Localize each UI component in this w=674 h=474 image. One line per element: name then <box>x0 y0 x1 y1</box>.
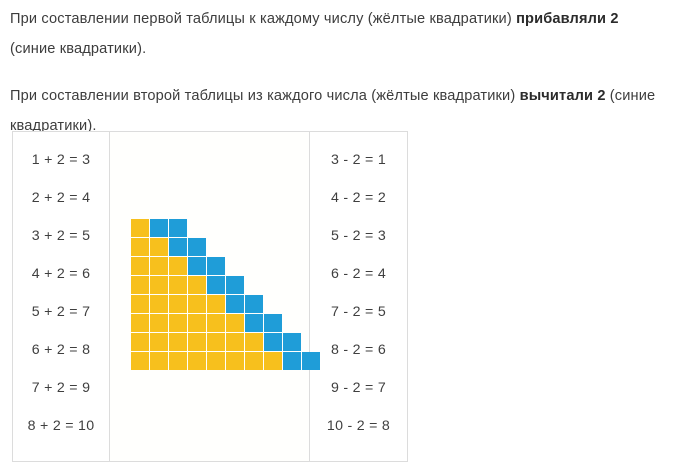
yellow-square <box>188 333 206 351</box>
yellow-square <box>188 314 206 332</box>
yellow-square <box>226 333 244 351</box>
squares-diagram-column <box>110 132 310 461</box>
yellow-square <box>150 238 168 256</box>
intro-paragraph-1-before: При составлении первой таблицы к каждому… <box>10 11 516 27</box>
yellow-square <box>150 257 168 275</box>
yellow-square <box>188 276 206 294</box>
subtraction-equation-row: 8 - 2 = 6 <box>310 331 407 369</box>
yellow-square <box>207 352 225 370</box>
squares-row <box>131 238 321 256</box>
blue-square <box>226 276 244 294</box>
yellow-square <box>245 352 263 370</box>
yellow-square <box>131 276 149 294</box>
addition-equation-row: 7 + 2 = 9 <box>13 369 109 407</box>
yellow-square <box>188 352 206 370</box>
blue-square <box>264 314 282 332</box>
subtraction-column: 3 - 2 = 1 4 - 2 = 2 5 - 2 = 3 6 - 2 = 4 … <box>310 132 407 461</box>
subtraction-equation-list: 3 - 2 = 1 4 - 2 = 2 5 - 2 = 3 6 - 2 = 4 … <box>310 132 407 445</box>
blue-square <box>264 333 282 351</box>
yellow-square <box>131 219 149 237</box>
intro-paragraph-2-before: При составлении второй таблицы из каждог… <box>10 88 520 104</box>
intro-text-block: При составлении первой таблицы к каждому… <box>10 4 668 141</box>
squares-row <box>131 314 321 332</box>
blue-square <box>283 352 301 370</box>
addition-equation-row: 2 + 2 = 4 <box>13 179 109 217</box>
squares-row <box>131 333 321 351</box>
yellow-square <box>207 314 225 332</box>
squares-row <box>131 276 321 294</box>
blue-square <box>245 295 263 313</box>
blue-square <box>188 257 206 275</box>
subtraction-equation-row: 4 - 2 = 2 <box>310 179 407 217</box>
blue-square <box>207 257 225 275</box>
yellow-square <box>131 314 149 332</box>
intro-paragraph-1-bold: прибавляли 2 <box>516 11 619 27</box>
yellow-square <box>150 276 168 294</box>
yellow-square <box>150 314 168 332</box>
addition-column: 1 + 2 = 3 2 + 2 = 4 3 + 2 = 5 4 + 2 = 6 … <box>13 132 110 461</box>
yellow-square <box>169 295 187 313</box>
addition-equation-list: 1 + 2 = 3 2 + 2 = 4 3 + 2 = 5 4 + 2 = 6 … <box>13 132 109 445</box>
yellow-square <box>131 238 149 256</box>
addition-equation-row: 1 + 2 = 3 <box>13 141 109 179</box>
squares-row <box>131 257 321 275</box>
yellow-square <box>150 295 168 313</box>
subtraction-equation-row: 6 - 2 = 4 <box>310 255 407 293</box>
yellow-square <box>131 257 149 275</box>
yellow-square <box>131 333 149 351</box>
blue-square <box>150 219 168 237</box>
intro-paragraph-1-after: (синие квадратики). <box>10 41 146 57</box>
blue-square <box>283 333 301 351</box>
yellow-square <box>207 333 225 351</box>
subtraction-equation-row: 5 - 2 = 3 <box>310 217 407 255</box>
equations-table: 1 + 2 = 3 2 + 2 = 4 3 + 2 = 5 4 + 2 = 6 … <box>12 131 408 462</box>
yellow-square <box>245 333 263 351</box>
blue-square <box>207 276 225 294</box>
subtraction-equation-row: 7 - 2 = 5 <box>310 293 407 331</box>
addition-equation-row: 5 + 2 = 7 <box>13 293 109 331</box>
yellow-square <box>264 352 282 370</box>
yellow-square <box>169 333 187 351</box>
yellow-square <box>169 352 187 370</box>
yellow-square <box>150 333 168 351</box>
yellow-square <box>207 295 225 313</box>
yellow-square <box>226 314 244 332</box>
yellow-square <box>131 295 149 313</box>
addition-equation-row: 3 + 2 = 5 <box>13 217 109 255</box>
blue-square <box>245 314 263 332</box>
yellow-square <box>169 276 187 294</box>
intro-paragraph-2-bold: вычитали 2 <box>520 88 606 104</box>
yellow-square <box>226 352 244 370</box>
squares-row <box>131 295 321 313</box>
yellow-square <box>131 352 149 370</box>
blue-square <box>169 238 187 256</box>
subtraction-equation-row: 9 - 2 = 7 <box>310 369 407 407</box>
yellow-square <box>169 314 187 332</box>
subtraction-equation-row: 10 - 2 = 8 <box>310 407 407 445</box>
addition-equation-row: 8 + 2 = 10 <box>13 407 109 445</box>
blue-square <box>169 219 187 237</box>
squares-row <box>131 219 321 237</box>
yellow-square <box>169 257 187 275</box>
addition-equation-row: 6 + 2 = 8 <box>13 331 109 369</box>
squares-row <box>131 352 321 370</box>
subtraction-equation-row: 3 - 2 = 1 <box>310 141 407 179</box>
addition-equation-row: 4 + 2 = 6 <box>13 255 109 293</box>
yellow-square <box>150 352 168 370</box>
blue-square <box>226 295 244 313</box>
yellow-square <box>188 295 206 313</box>
blue-square <box>188 238 206 256</box>
squares-staircase <box>131 219 321 371</box>
intro-paragraph-1: При составлении первой таблицы к каждому… <box>10 4 668 64</box>
